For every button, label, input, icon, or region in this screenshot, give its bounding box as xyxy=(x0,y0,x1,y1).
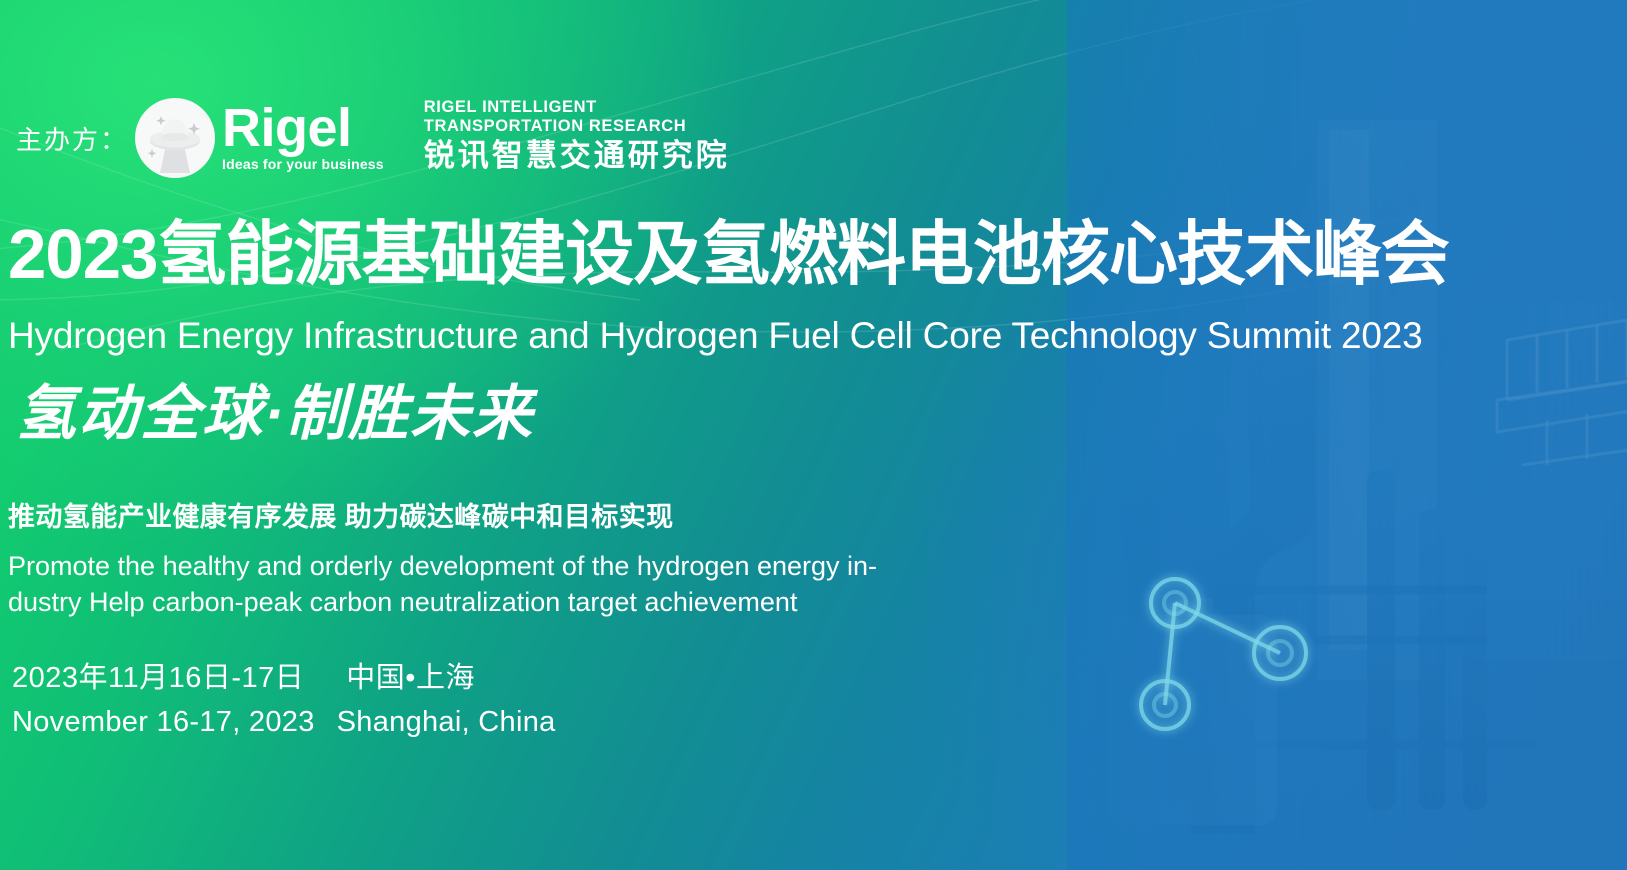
slogan-cn: 氢动全球·制胜未来 xyxy=(16,374,534,454)
description-en: Promote the healthy and orderly developm… xyxy=(8,548,968,620)
date-en: November 16-17, 2023 xyxy=(12,702,315,742)
date-cn: 2023年11月16日-17日 xyxy=(12,658,304,698)
ufo-saucer-logo-icon xyxy=(134,97,216,179)
banner-content: 主办方： Rigel Ideas for xyxy=(0,0,1627,870)
org-en-line2: TRANSPORTATION RESEARCH xyxy=(424,117,730,136)
logo-text-block: Rigel Ideas for your business xyxy=(222,104,384,172)
date-row-cn: 2023年11月16日-17日 中国•上海 xyxy=(12,658,475,698)
conference-banner: 主办方： Rigel Ideas for xyxy=(0,0,1627,870)
date-row-en: November 16-17, 2023 Shanghai, China xyxy=(12,702,556,742)
logo-wordmark: Rigel xyxy=(222,102,384,154)
organizer-row: 主办方： Rigel Ideas for xyxy=(16,92,730,184)
place-en: Shanghai, China xyxy=(337,702,556,742)
logo-tagline: Ideas for your business xyxy=(222,156,384,172)
place-cn: 中国•上海 xyxy=(346,658,475,698)
main-title-en: Hydrogen Energy Infrastructure and Hydro… xyxy=(8,312,1423,360)
organizer-label: 主办方： xyxy=(16,120,128,157)
description-en-line1: Promote the healthy and orderly developm… xyxy=(8,548,968,584)
org-cn-name: 锐讯智慧交通研究院 xyxy=(424,138,730,174)
main-title-cn: 2023氢能源基础建设及氢燃料电池核心技术峰会 xyxy=(8,212,1449,296)
organization-name-block: RIGEL INTELLIGENT TRANSPORTATION RESEARC… xyxy=(424,98,730,174)
description-cn: 推动氢能产业健康有序发展 助力碳达峰碳中和目标实现 xyxy=(8,498,674,536)
org-en-line1: RIGEL INTELLIGENT xyxy=(424,98,730,117)
description-en-line2: dustry Help carbon-peak carbon neutraliz… xyxy=(8,584,968,620)
